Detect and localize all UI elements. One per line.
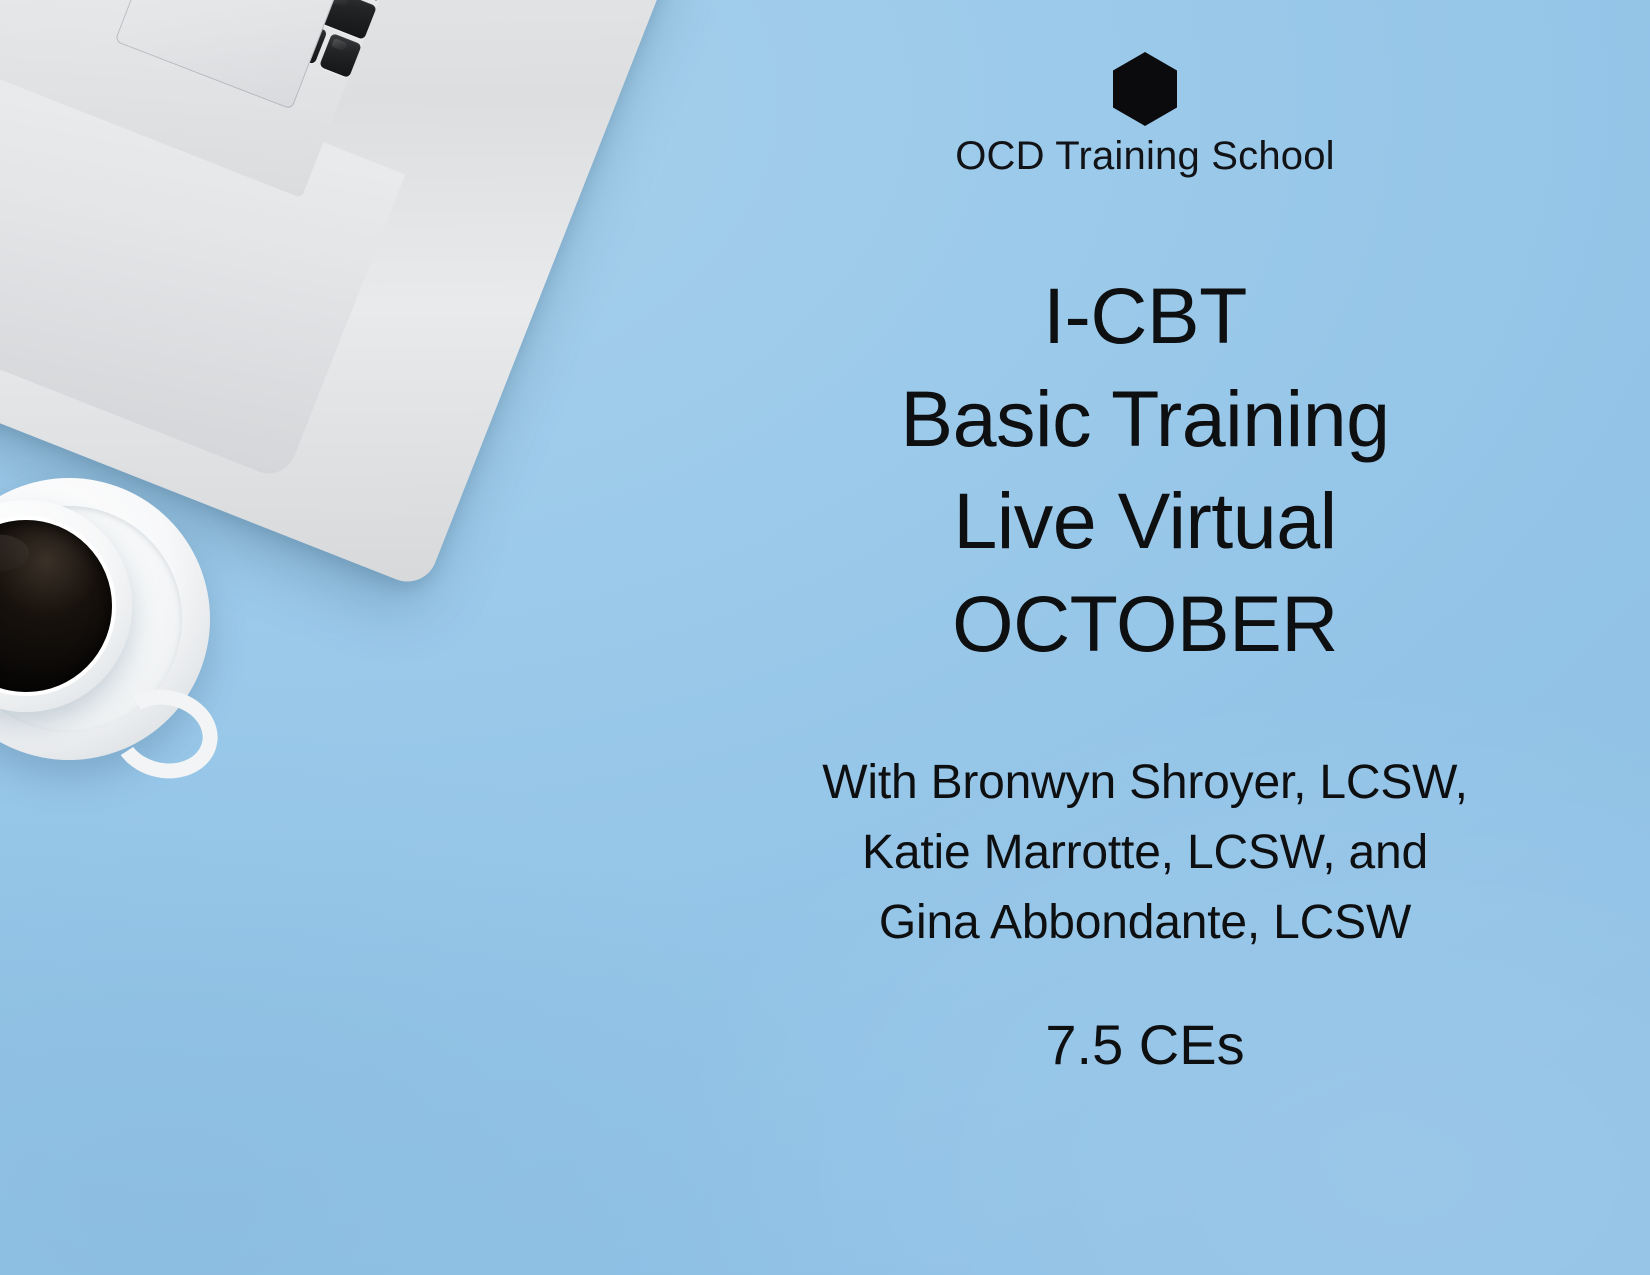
presenter-line-3: Gina Abbondante, LCSW <box>640 888 1650 958</box>
promo-poster: tab caps lock <box>0 0 1650 1275</box>
coffee-liquid <box>0 520 112 692</box>
presenter-list: With Bronwyn Shroyer, LCSW, Katie Marrot… <box>640 748 1650 958</box>
headline-line-4: OCTOBER <box>640 573 1650 676</box>
poster-content: OCD Training School I-CBT Basic Training… <box>640 0 1650 1275</box>
headline-line-3: Live Virtual <box>640 470 1650 573</box>
brand-lockup: OCD Training School <box>640 52 1650 178</box>
hexagon-logo-icon <box>1113 52 1177 126</box>
headline-line-1: I-CBT <box>640 265 1650 368</box>
presenter-line-2: Katie Marrotte, LCSW, and <box>640 818 1650 888</box>
brand-name: OCD Training School <box>640 134 1650 178</box>
page-title: I-CBT Basic Training Live Virtual OCTOBE… <box>640 265 1650 676</box>
keyboard-key-arrow <box>319 33 362 78</box>
headline-line-2: Basic Training <box>640 368 1650 471</box>
presenter-line-1: With Bronwyn Shroyer, LCSW, <box>640 748 1650 818</box>
ce-credits-label: 7.5 CEs <box>640 1012 1650 1077</box>
